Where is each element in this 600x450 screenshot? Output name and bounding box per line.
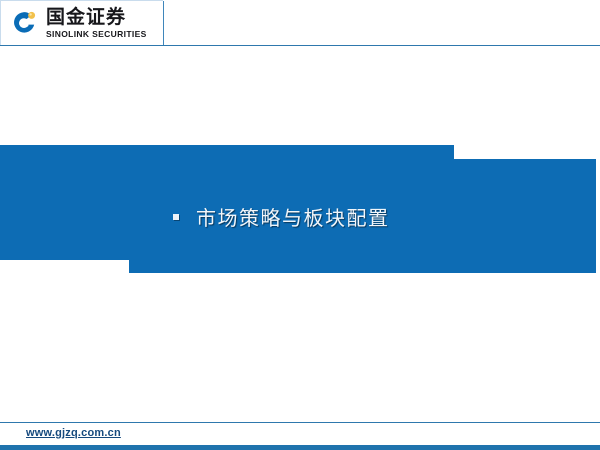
footer-website-link[interactable]: www.gjzq.com.cn <box>26 427 121 439</box>
section-title: 市场策略与板块配置 <box>196 202 390 231</box>
section-title-row: 市场策略与板块配置 <box>173 202 390 231</box>
logo-name-en: SINOLINK SECURITIES <box>46 30 147 39</box>
slide-header: 国金证券 SINOLINK SECURITIES <box>0 0 600 46</box>
square-bullet-icon <box>173 214 179 220</box>
slide: 国金证券 SINOLINK SECURITIES 市场策略与板块配置 www.g… <box>0 0 600 450</box>
company-logo: 国金证券 SINOLINK SECURITIES <box>0 0 163 45</box>
title-block-foreground: 市场策略与板块配置 <box>129 159 596 273</box>
header-vertical-divider <box>163 1 164 45</box>
logo-name-cn: 国金证券 <box>46 8 147 27</box>
footer-accent-bar <box>0 445 600 450</box>
footer-top-rule <box>0 422 600 423</box>
sinolink-gold-dot-icon <box>28 12 35 19</box>
header-horizontal-rule <box>0 45 600 46</box>
sinolink-ring-icon <box>10 8 40 38</box>
logo-wordmark: 国金证券 SINOLINK SECURITIES <box>46 8 147 39</box>
